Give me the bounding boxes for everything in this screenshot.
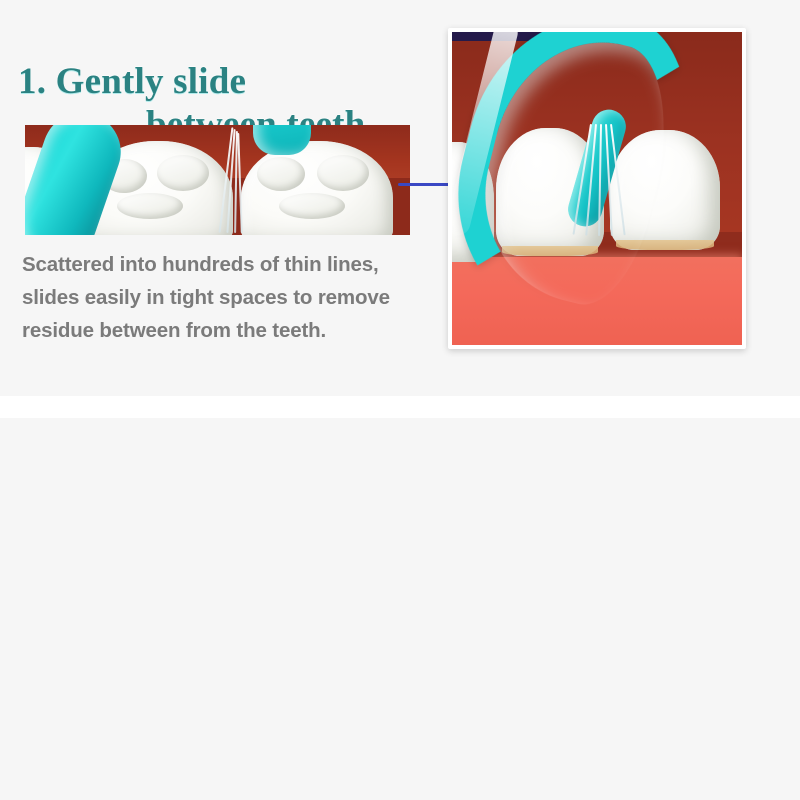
occlusal-groove (279, 193, 345, 219)
panel-floss-between-molars (448, 28, 746, 349)
section-divider (0, 396, 800, 418)
panel-floss-zoom-inset (25, 125, 410, 235)
cusp-ridge (257, 157, 305, 191)
cusp-ridge (317, 155, 369, 191)
illustration-floss-between-teeth-zoom (25, 125, 410, 235)
cusp-ridge (157, 155, 209, 191)
section-1-body-text: Scattered into hundreds of thin lines, s… (22, 248, 434, 348)
occlusal-groove (117, 193, 183, 219)
section-long-handle: 2. Long ergonomic handle (0, 418, 800, 800)
illustration-floss-pick-in-use (452, 32, 742, 345)
floss-strand (598, 124, 602, 236)
floss-strand (610, 124, 626, 235)
infographic-page: 1. Gently slide between teeth (0, 0, 800, 800)
floss-strand-group (580, 124, 650, 254)
section-1-heading-line1: 1. Gently slide (18, 61, 246, 102)
section-gently-slide: 1. Gently slide between teeth (0, 0, 800, 396)
